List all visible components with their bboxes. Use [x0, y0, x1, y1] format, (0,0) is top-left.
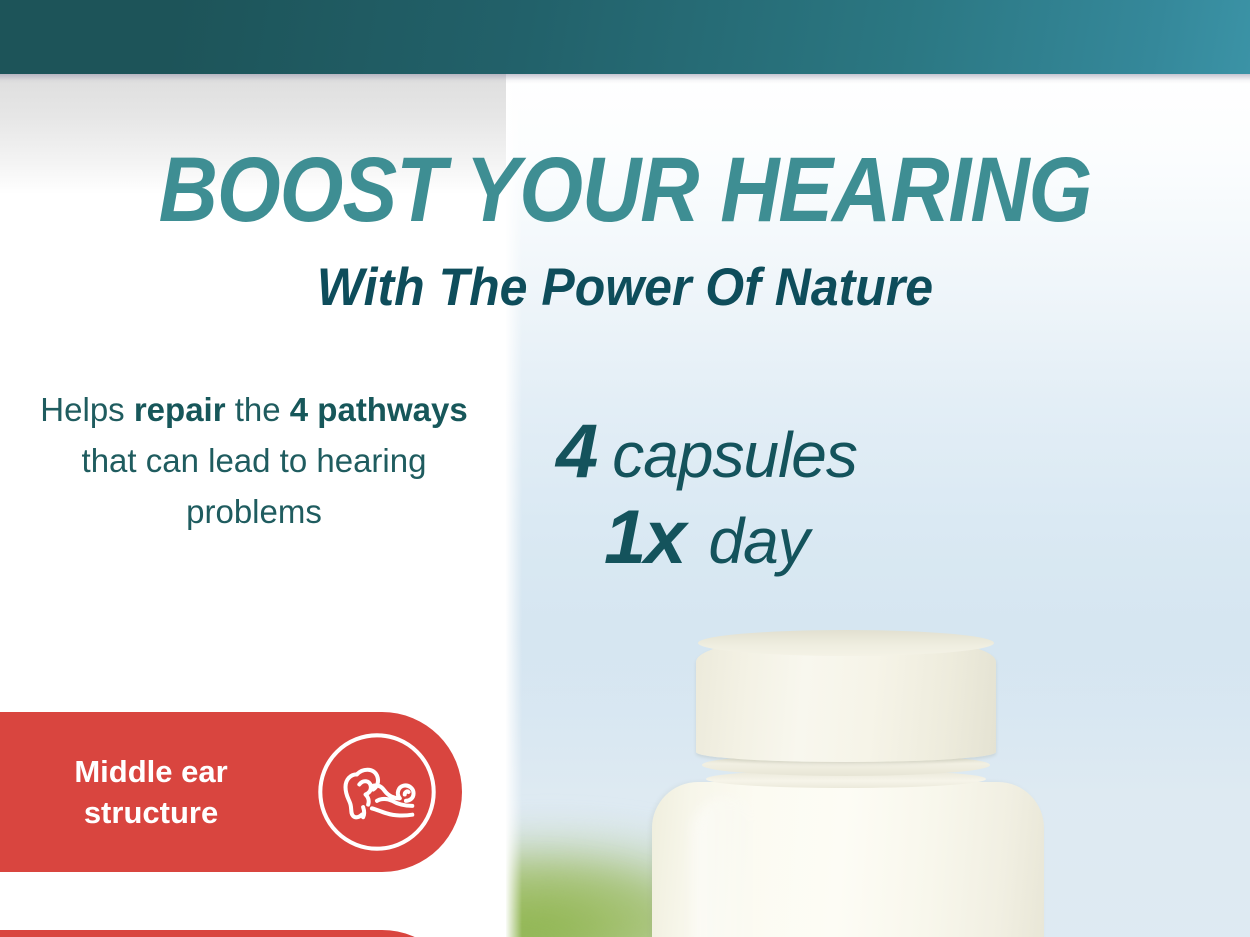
page-subtitle: With The Power Of Nature [0, 256, 1250, 317]
lead-part-2: the [226, 391, 290, 428]
dosage-row-capsules: 4 capsules [556, 414, 857, 490]
dosage-row-frequency: 1x day [556, 500, 857, 576]
bottle-cap-top [698, 630, 994, 656]
lead-part-3: that can lead to hearing problems [82, 442, 427, 530]
header-band-shadow [0, 74, 1250, 84]
lead-bold-repair: repair [134, 391, 226, 428]
dosage-frequency-word: day [709, 509, 809, 573]
pathway-badge-central-nervous[interactable]: Central nervous system [0, 930, 462, 937]
pathway-badge-middle-ear[interactable]: Middle ear structure [0, 712, 462, 872]
lead-paragraph: Helps repair the 4 pathways that can lea… [34, 384, 474, 537]
dosage-count: 4 [556, 414, 596, 490]
lead-part-1: Helps [40, 391, 134, 428]
header-band [0, 0, 1250, 74]
lead-bold-pathways: 4 pathways [290, 391, 468, 428]
dosage-frequency: 1x [604, 500, 685, 576]
bottle-highlight [692, 796, 762, 937]
dosage-count-word: capsules [612, 423, 857, 487]
page-canvas: Easy to swallow BOOST YOUR HEARING With … [0, 74, 1250, 937]
page-title: BOOST YOUR HEARING [0, 138, 1250, 243]
ear-anatomy-icon [314, 729, 440, 855]
pathway-badge-label: Middle ear structure [6, 751, 296, 833]
dosage-block: 4 capsules 1x day [556, 414, 857, 576]
supplement-bottle [632, 624, 1062, 937]
